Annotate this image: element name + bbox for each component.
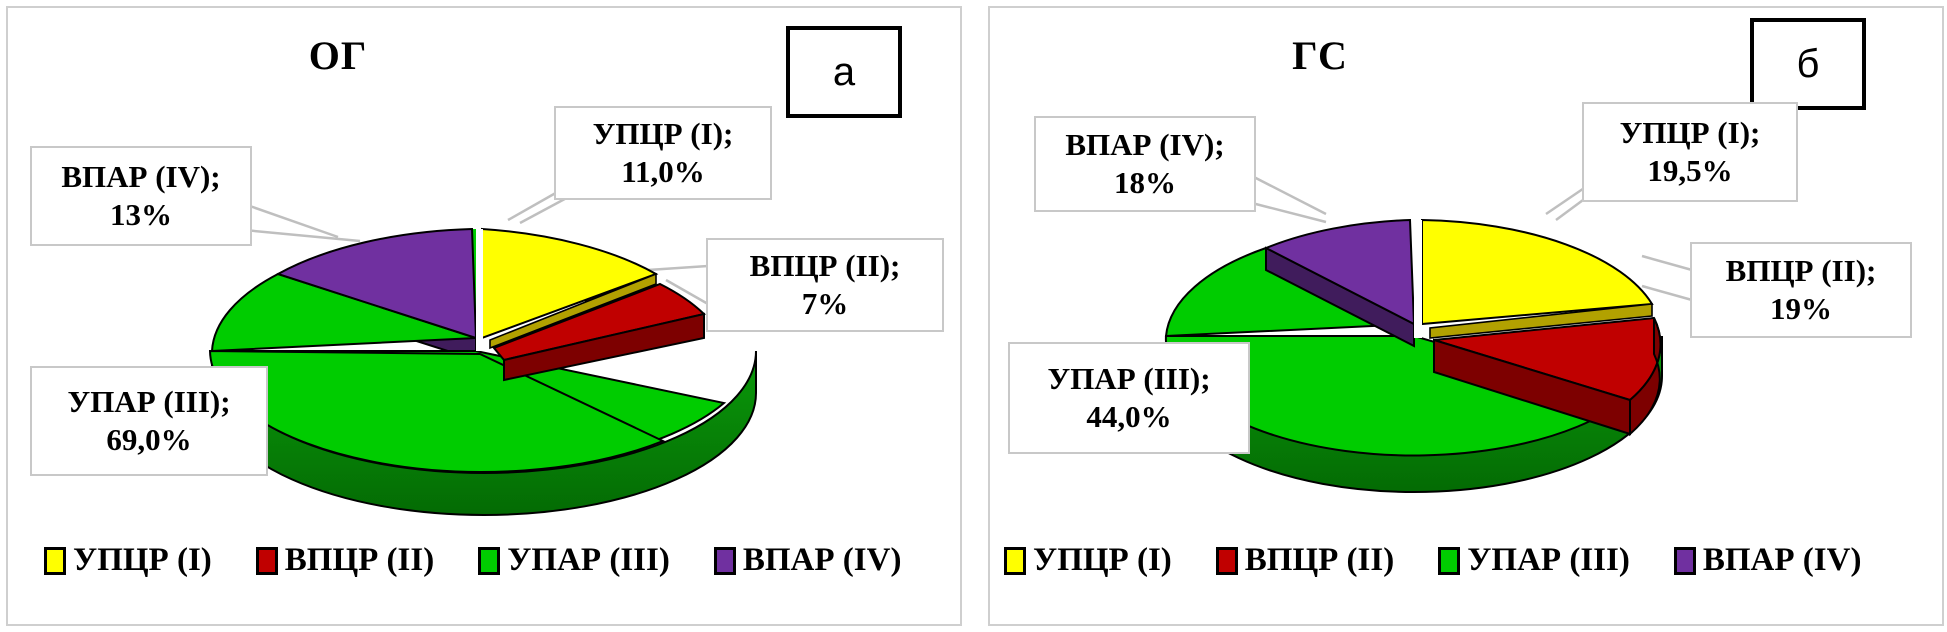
legend-item-upcr-a[interactable]: УПЦР (I)	[44, 542, 212, 579]
callout-upar-b-value: 44,0%	[1086, 398, 1171, 436]
legend-swatch-vpar-icon	[714, 547, 736, 575]
legend-label-upcr-b: УПЦР (I)	[1033, 542, 1172, 579]
callout-upar-b: УПАР (III); 44,0%	[1008, 342, 1250, 454]
legend-swatch-upcr-icon	[44, 547, 66, 575]
callout-vpcr-b-label: ВПЦР (II);	[1726, 252, 1877, 290]
legend-label-vpcr-a: ВПЦР (II)	[285, 542, 434, 579]
callout-vpcr-a: ВПЦР (II); 7%	[706, 238, 944, 332]
callout-vpar-a: ВПАР (IV); 13%	[30, 146, 252, 246]
legend-item-upar-b[interactable]: УПАР (III)	[1438, 542, 1630, 579]
legend-label-upar-a: УПАР (III)	[507, 542, 670, 579]
callout-vpar-a-value: 13%	[110, 196, 172, 234]
panel-marker-b: б	[1750, 18, 1866, 110]
callout-upcr-a-label: УПЦР (I);	[593, 115, 734, 153]
legend-label-upcr-a: УПЦР (I)	[73, 542, 212, 579]
chart-title-b: ГС	[990, 32, 1650, 79]
figure-root: ОГ а	[0, 0, 1947, 632]
callout-vpar-a-label: ВПАР (IV);	[61, 158, 220, 196]
callout-vpar-b-value: 18%	[1114, 164, 1176, 202]
legend-item-vpcr-a[interactable]: ВПЦР (II)	[256, 542, 434, 579]
chart-title-a: ОГ	[8, 32, 668, 79]
legend-swatch-upar-icon	[478, 547, 500, 575]
legend-item-vpar-a[interactable]: ВПАР (IV)	[714, 542, 902, 579]
callout-upar-b-label: УПАР (III);	[1047, 360, 1210, 398]
legend-swatch-vpcr-icon	[1216, 547, 1238, 575]
legend-swatch-vpcr-icon	[256, 547, 278, 575]
callout-upcr-b-label: УПЦР (I);	[1620, 114, 1761, 152]
callout-upcr-a: УПЦР (I); 11,0%	[554, 106, 772, 200]
pie-chart-a	[204, 188, 764, 518]
legend-swatch-vpar-icon	[1674, 547, 1696, 575]
callout-vpcr-a-label: ВПЦР (II);	[750, 247, 901, 285]
legend-b: УПЦР (I) ВПЦР (II) УПАР (III) ВПАР (IV)	[1004, 542, 1934, 579]
legend-a: УПЦР (I) ВПЦР (II) УПАР (III) ВПАР (IV)	[44, 542, 934, 579]
legend-label-vpcr-b: ВПЦР (II)	[1245, 542, 1394, 579]
legend-swatch-upar-icon	[1438, 547, 1460, 575]
callout-upcr-a-value: 11,0%	[621, 153, 705, 191]
chart-panel-b: ГС б	[988, 6, 1944, 626]
callout-vpar-b: ВПАР (IV); 18%	[1034, 116, 1256, 212]
legend-swatch-upcr-icon	[1004, 547, 1026, 575]
callout-vpcr-b: ВПЦР (II); 19%	[1690, 242, 1912, 338]
legend-item-vpar-b[interactable]: ВПАР (IV)	[1674, 542, 1862, 579]
callout-upcr-b-value: 19,5%	[1647, 152, 1732, 190]
legend-label-vpar-a: ВПАР (IV)	[743, 542, 902, 579]
legend-item-upcr-b[interactable]: УПЦР (I)	[1004, 542, 1172, 579]
legend-label-vpar-b: ВПАР (IV)	[1703, 542, 1862, 579]
callout-upar-a-value: 69,0%	[106, 421, 191, 459]
callout-vpar-b-label: ВПАР (IV);	[1065, 126, 1224, 164]
callout-upcr-b: УПЦР (I); 19,5%	[1582, 102, 1798, 202]
panel-marker-a: а	[786, 26, 902, 118]
legend-item-vpcr-b[interactable]: ВПЦР (II)	[1216, 542, 1394, 579]
callout-upar-a-label: УПАР (III);	[67, 383, 230, 421]
callout-upar-a: УПАР (III); 69,0%	[30, 366, 268, 476]
chart-panel-a: ОГ а	[6, 6, 962, 626]
legend-label-upar-b: УПАР (III)	[1467, 542, 1630, 579]
legend-item-upar-a[interactable]: УПАР (III)	[478, 542, 670, 579]
callout-vpcr-a-value: 7%	[802, 285, 849, 323]
callout-vpcr-b-value: 19%	[1770, 290, 1832, 328]
